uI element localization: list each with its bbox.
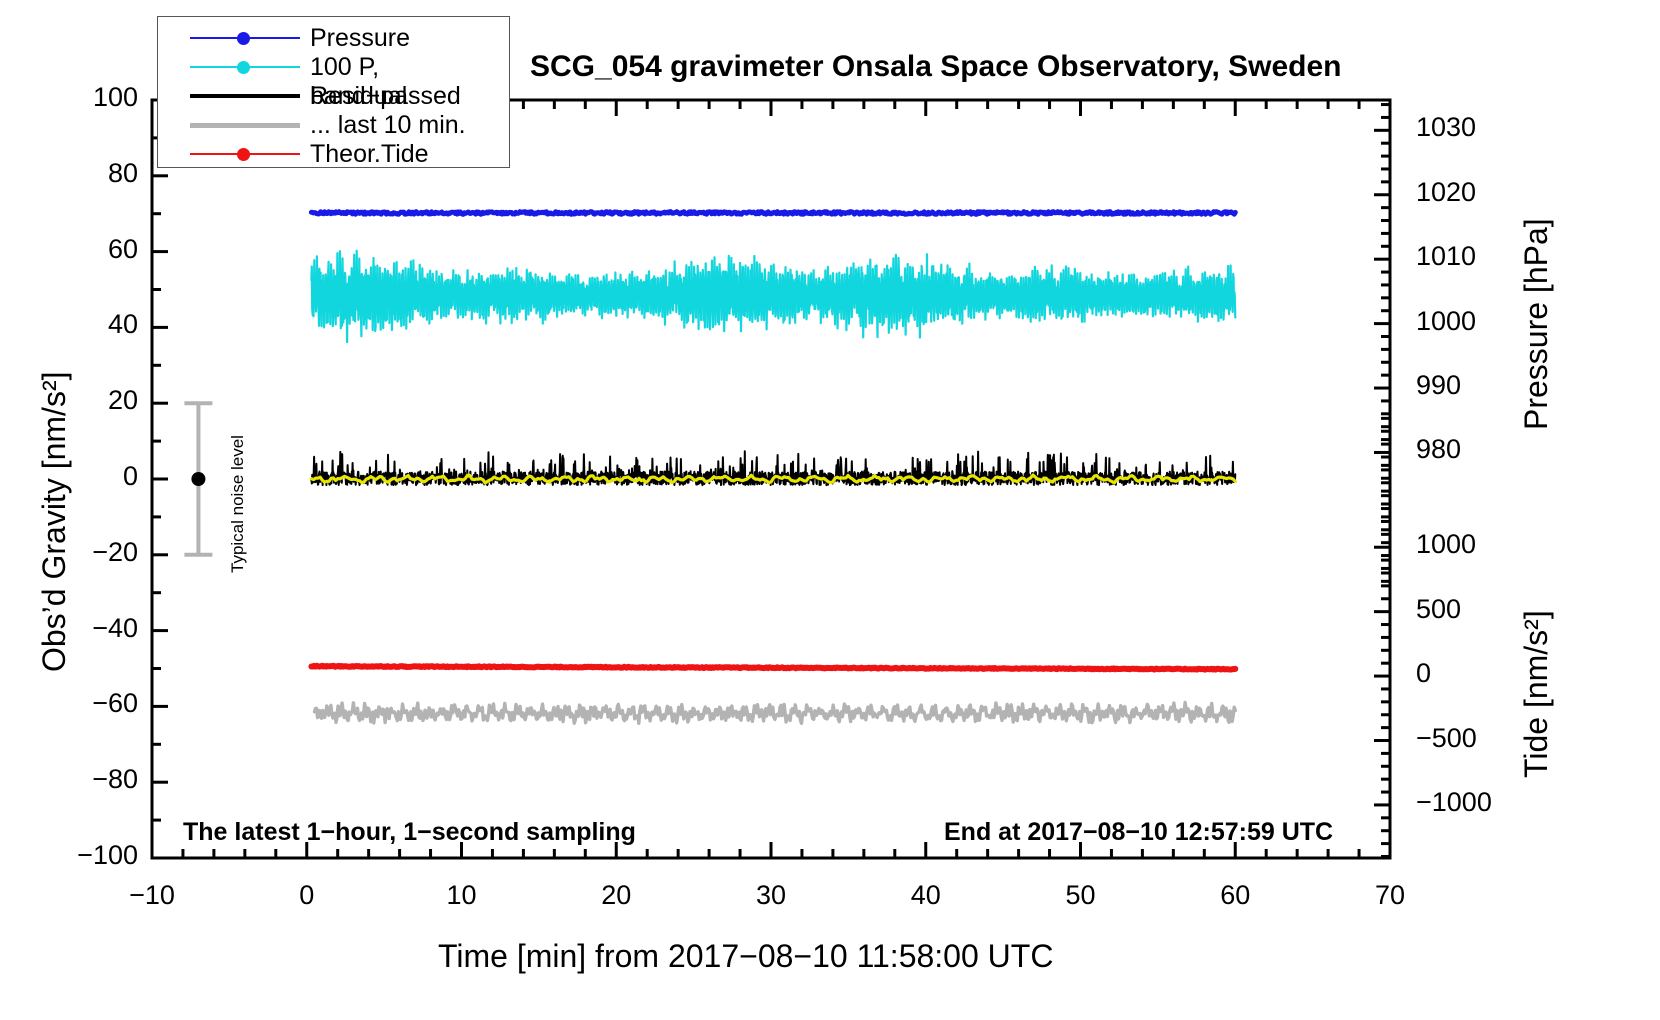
x-tick-label: 40 (911, 880, 941, 911)
tide-tick-label: 1000 (1416, 529, 1476, 560)
y-tick-label: 100 (93, 82, 138, 113)
x-tick-label: 70 (1375, 880, 1405, 911)
x-tick-label: 60 (1220, 880, 1250, 911)
x-tick-label: 20 (601, 880, 631, 911)
y-tick-label: −100 (77, 840, 138, 871)
y-tick-label: 80 (108, 158, 138, 189)
y-tick-label: 40 (108, 309, 138, 340)
y-tick-label: −20 (92, 537, 138, 568)
legend-label: Theor.Tide (310, 140, 429, 169)
y-tick-label: 0 (123, 461, 138, 492)
legend-swatch (190, 23, 300, 53)
noise-level-label: Typical noise level (228, 435, 248, 573)
series-pressure (311, 212, 1235, 215)
legend-swatch (190, 52, 300, 82)
legend-label: ... last 10 min. (310, 111, 466, 140)
series-theor-tide (311, 666, 1235, 670)
legend: Pressure100 P, band−passedResidual... la… (157, 16, 510, 168)
pressure-tick-label: 980 (1416, 434, 1461, 465)
legend-item-theor-tide[interactable]: Theor.Tide (158, 139, 509, 169)
pressure-tick-label: 1000 (1416, 306, 1476, 337)
y-axis-ticks (152, 100, 168, 858)
legend-item-100-p-band-passed[interactable]: 100 P, band−passed (158, 52, 509, 82)
noise-bar (184, 403, 212, 555)
legend-item-last-10-min[interactable]: ... last 10 min. (158, 110, 509, 140)
y-tick-label: 20 (108, 385, 138, 416)
x-tick-label: 50 (1065, 880, 1095, 911)
noise-bar-center-dot (191, 472, 205, 486)
legend-label: Pressure (310, 24, 410, 53)
x-tick-label: −10 (129, 880, 175, 911)
pressure-tick-label: 1020 (1416, 177, 1476, 208)
legend-line (190, 94, 300, 98)
series-last-10-min (315, 703, 1236, 724)
legend-swatch (190, 139, 300, 169)
legend-swatch (190, 110, 300, 140)
x-tick-label: 10 (446, 880, 476, 911)
right-pressure-axis-title: Pressure [hPa] (1518, 218, 1555, 430)
x-tick-label: 0 (299, 880, 314, 911)
pressure-tick-label: 1030 (1416, 112, 1476, 143)
legend-label: Residual (310, 82, 407, 111)
legend-item-residual[interactable]: Residual (158, 81, 509, 111)
legend-marker-dot (237, 148, 250, 161)
page-title: SCG_054 gravimeter Onsala Space Observat… (530, 50, 1342, 84)
legend-marker-dot (237, 61, 250, 74)
y-tick-label: −40 (92, 613, 138, 644)
legend-marker-dot (237, 32, 250, 45)
caption-left: The latest 1−hour, 1−second sampling (183, 818, 636, 847)
y-axis-title: Obs’d Gravity [nm/s²] (36, 372, 73, 673)
y-tick-label: −60 (92, 688, 138, 719)
pressure-tick-label: 990 (1416, 370, 1461, 401)
y-tick-label: 60 (108, 234, 138, 265)
data-series-layer (311, 212, 1235, 724)
legend-line (190, 123, 300, 128)
pressure-tick-label: 1010 (1416, 241, 1476, 272)
tide-tick-label: −1000 (1416, 787, 1492, 818)
y-tick-label: −80 (92, 764, 138, 795)
chart-figure: SCG_054 gravimeter Onsala Space Observat… (0, 0, 1660, 1020)
tide-tick-label: 500 (1416, 594, 1461, 625)
legend-swatch (190, 81, 300, 111)
x-axis-title: Time [min] from 2017−08−10 11:58:00 UTC (438, 938, 1053, 975)
right-tide-ticks (1374, 418, 1390, 856)
legend-item-pressure[interactable]: Pressure (158, 23, 509, 53)
right-tide-axis-title: Tide [nm/s²] (1518, 610, 1555, 778)
tide-tick-label: 0 (1416, 658, 1431, 689)
x-tick-label: 30 (756, 880, 786, 911)
caption-right: End at 2017−08−10 12:57:59 UTC (944, 818, 1333, 847)
series-band-passed (311, 251, 1235, 342)
tide-tick-label: −500 (1416, 723, 1477, 754)
